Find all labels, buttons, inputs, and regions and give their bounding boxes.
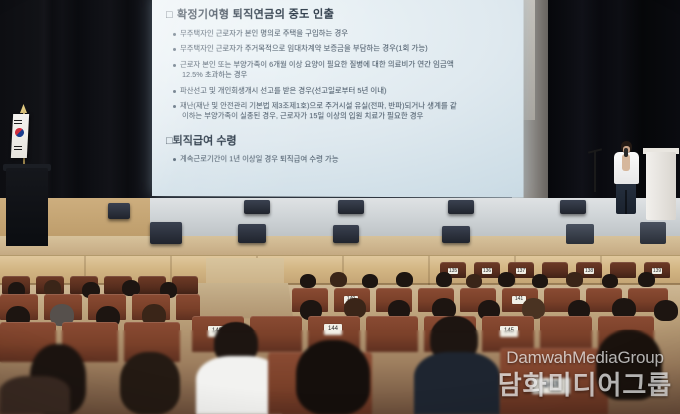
mic-stand xyxy=(594,150,596,192)
audience-head xyxy=(638,272,655,287)
checkbox-glyph-icon: □ xyxy=(166,9,173,21)
bullet-line-2: 이하는 부양가족이 실종된 경우, 근로자가 15일 이상의 입원 치료가 필요… xyxy=(180,111,509,122)
bullet-line-1: 무주택자인 근로자가 본인 명의로 주택을 구입하는 경우 xyxy=(180,28,348,37)
presenter-leg-gap xyxy=(625,190,627,214)
bullet-line-1: 무주택자인 근로자가 주거목적으로 임대차계약 보증금을 부담하는 경우(1회 … xyxy=(180,44,428,54)
slide-bullet-item: 근로자 본인 또는 부양가족이 6개월 이상 요양이 필요한 질병에 대한 의료… xyxy=(173,59,509,80)
stage-monitor xyxy=(150,222,182,244)
slide-content: □확정기여형 퇴직연금의 중도 인출 무주택자인 근로자가 본인 명의로 주택을… xyxy=(164,3,509,192)
stage-monitor xyxy=(560,200,586,214)
seat-number-plate: 139 xyxy=(652,268,662,274)
stage-monitor xyxy=(338,200,364,214)
audience-head xyxy=(602,274,618,288)
audience-head xyxy=(300,274,316,288)
slide-heading-2-text: 퇴직급여 수령 xyxy=(173,135,237,147)
audience-head xyxy=(466,274,482,288)
slide-heading-2: □퇴직급여 수령 xyxy=(166,132,509,149)
seat xyxy=(366,316,418,352)
seat xyxy=(540,316,592,352)
auditorium-photo: □확정기여형 퇴직연금의 중도 인출 무주택자인 근로자가 본인 명의로 주택을… xyxy=(0,0,680,414)
stage-monitor xyxy=(108,203,130,219)
bullet-line-1: 파산선고 및 개인회생개시 선고를 받은 경우(선고일로부터 5년 이내) xyxy=(180,86,387,95)
slide-bullet-item: 재난(재난 및 안전관리 기본법 제3조제1호)으로 주거시설 유실(전파, 반… xyxy=(173,101,509,122)
stage-speaker-box xyxy=(640,222,666,244)
checkbox-glyph-icon: □ xyxy=(166,135,173,147)
audience-head xyxy=(596,330,662,400)
lectern xyxy=(646,152,676,220)
bullet-line-1: 계속근로기간이 1년 이상일 경우 퇴직급여 수령 가능 xyxy=(180,154,339,163)
slide-bullet-list-1: 무주택자인 근로자가 본인 명의로 주택을 구입하는 경우 무주택자인 근로자가… xyxy=(164,28,509,122)
stage-monitor xyxy=(442,226,470,243)
slide-heading-1-text: 확정기여형 퇴직연금의 중도 인출 xyxy=(177,8,334,21)
seat-number-plate: 145 xyxy=(500,326,518,337)
bullet-line-1: 재난(재난 및 안전관리 기본법 제3조제1호)으로 주거시설 유실(전파, 반… xyxy=(180,101,457,110)
slide-bullet-list-2: 계속근로기간이 1년 이상일 경우 퇴직급여 수령 가능 xyxy=(164,154,509,165)
seat-number-plate: 144 xyxy=(324,324,342,335)
slide-bullet-item: 무주택자인 근로자가 주거목적으로 임대차계약 보증금을 부담하는 경우(1회 … xyxy=(173,44,509,55)
audience-head xyxy=(498,272,515,287)
audience-head xyxy=(654,300,678,321)
seat-number-plate: 138 xyxy=(584,268,594,274)
audience-head xyxy=(436,272,452,287)
slide-bullet-item: 계속근로기간이 1년 이상일 경우 퇴직급여 수령 가능 xyxy=(173,154,509,165)
stage-monitor xyxy=(448,200,474,214)
seat-number-plate: 137 xyxy=(516,268,526,274)
projection-screen: □확정기여형 퇴직연금의 중도 인출 무주택자인 근로자가 본인 명의로 주택을… xyxy=(152,0,524,198)
audience-shoulders xyxy=(414,352,500,414)
audience-head xyxy=(396,272,413,287)
flag-trigram xyxy=(14,149,22,150)
seat-number-plate-143: 143 xyxy=(532,378,570,394)
audience-head xyxy=(344,298,366,318)
audience-head xyxy=(120,352,180,414)
stage-speaker-box xyxy=(566,224,594,244)
handheld-mic-icon xyxy=(624,148,628,157)
audience-head xyxy=(362,274,378,288)
podium xyxy=(6,168,48,246)
seat-number-plate: 136 xyxy=(482,268,492,274)
slide-heading-1: □확정기여형 퇴직연금의 중도 인출 xyxy=(166,5,509,22)
audience-head xyxy=(296,340,370,414)
flag-trigram xyxy=(14,123,22,124)
stage-monitor xyxy=(238,224,266,243)
bullet-line-1: 근로자 본인 또는 부양가족이 6개월 이상 요양이 필요한 질병에 대한 의료… xyxy=(180,59,454,68)
audience-head xyxy=(566,272,583,287)
bullet-line-2: 12.5% 초과하는 경우 xyxy=(180,70,509,81)
audience-head xyxy=(532,274,548,288)
audience-head xyxy=(330,272,347,287)
flag-trigram xyxy=(14,120,22,121)
flag-trigram xyxy=(14,146,22,147)
stage-monitor xyxy=(244,200,270,214)
center-aisle xyxy=(191,283,293,318)
audience-shoulders xyxy=(0,376,70,414)
stage-monitor xyxy=(333,225,359,243)
slide-bullet-item: 파산선고 및 개인회생개시 선고를 받은 경우(선고일로부터 5년 이내) xyxy=(173,85,509,96)
slide-bullet-item: 무주택자인 근로자가 본인 명의로 주택을 구입하는 경우 xyxy=(173,28,509,39)
